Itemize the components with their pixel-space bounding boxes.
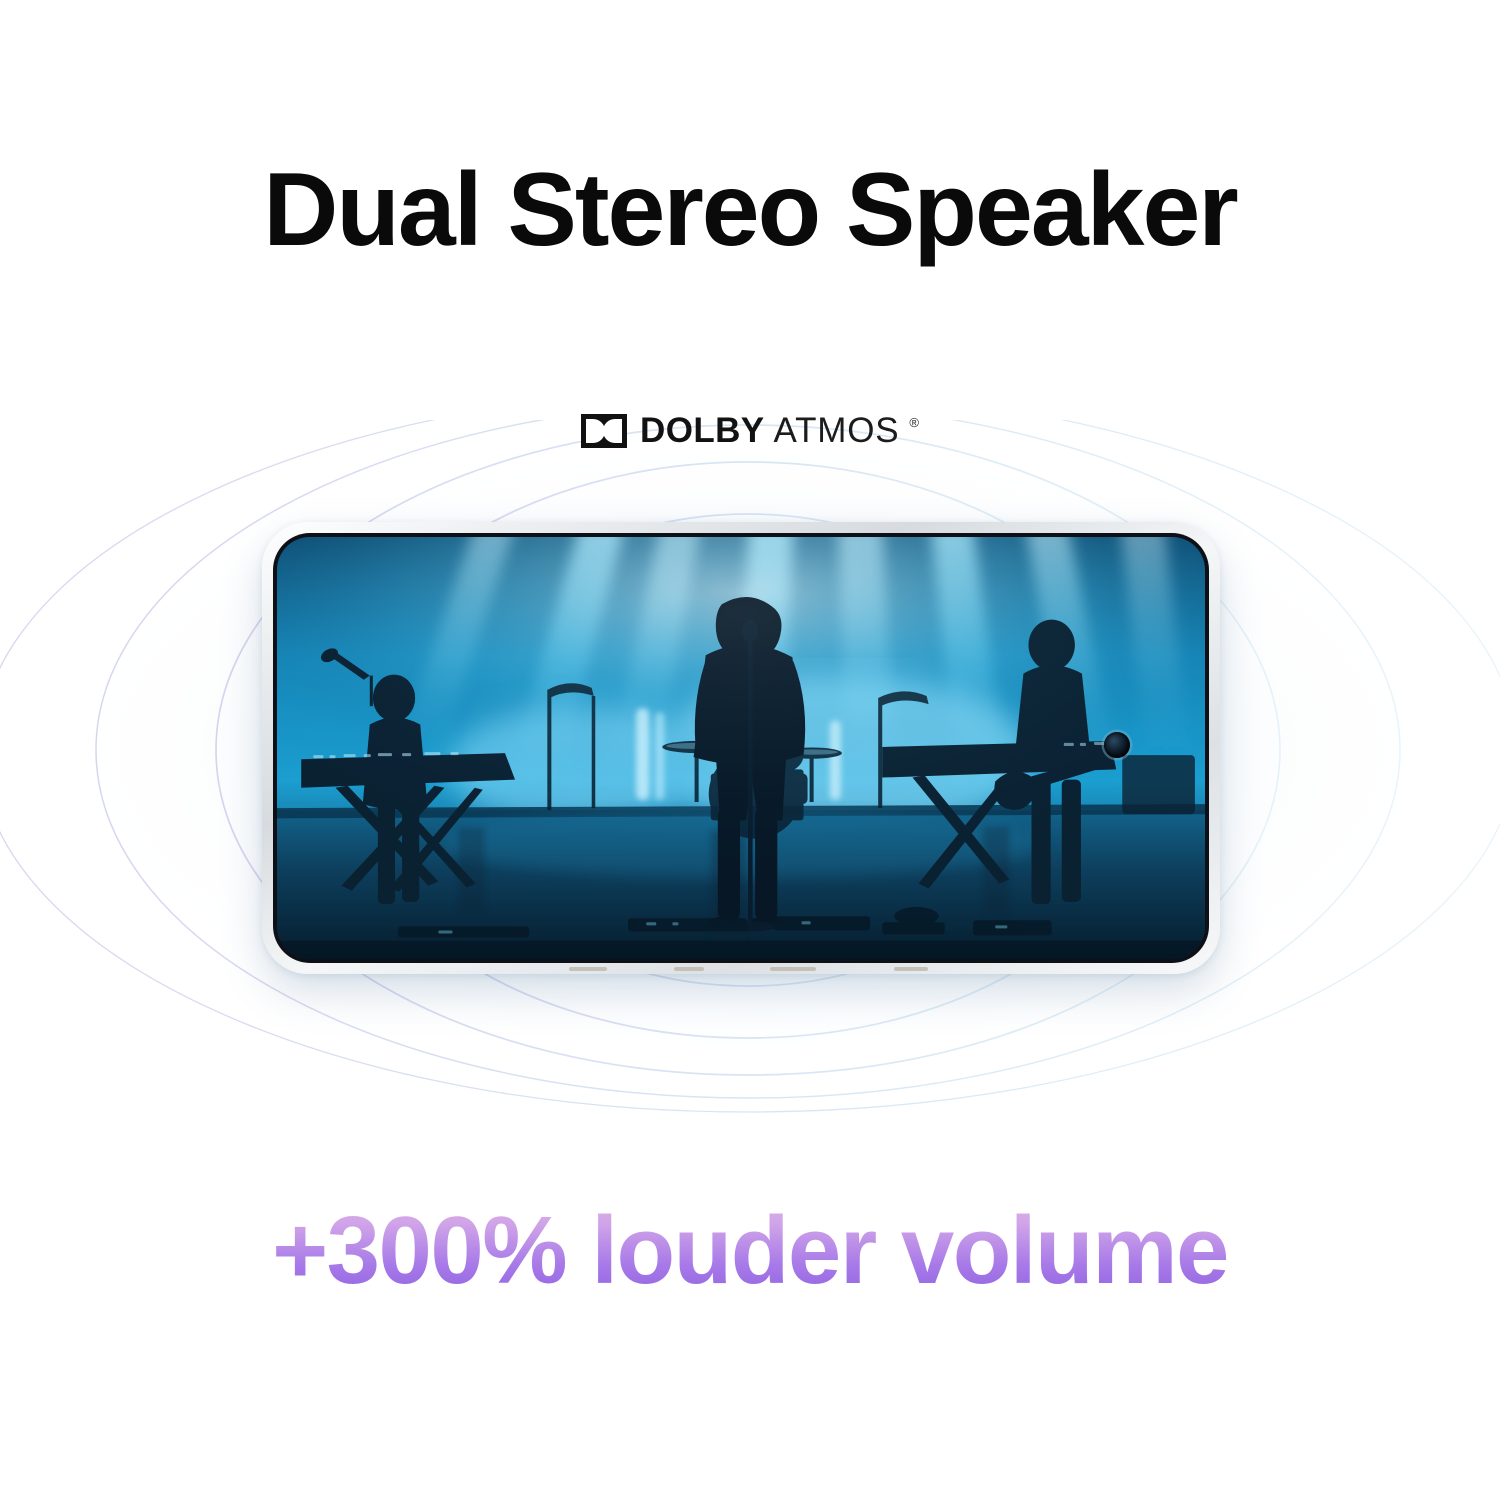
phone-screen <box>277 537 1205 959</box>
punch-hole-camera-icon <box>1104 732 1130 758</box>
page-title: Dual Stereo Speaker <box>0 152 1500 268</box>
registered-trademark-icon: ® <box>909 414 919 431</box>
antenna-band <box>674 967 704 971</box>
dolby-atmos-badge: DOLBY ATMOS ® <box>0 414 1500 448</box>
volume-claim-text: +300% louder volume <box>0 1196 1500 1306</box>
marketing-banner: Dual Stereo Speaker DOLBY ATMOS ® <box>0 0 1500 1500</box>
dolby-brand-text: DOLBY <box>640 414 765 448</box>
phone-device <box>262 522 1220 974</box>
antenna-band <box>569 967 607 971</box>
antenna-band <box>770 967 816 971</box>
phone-bezel <box>273 533 1209 963</box>
antenna-band <box>894 967 928 971</box>
dolby-double-d-icon <box>581 414 627 448</box>
dolby-format-text: ATMOS <box>774 414 900 448</box>
